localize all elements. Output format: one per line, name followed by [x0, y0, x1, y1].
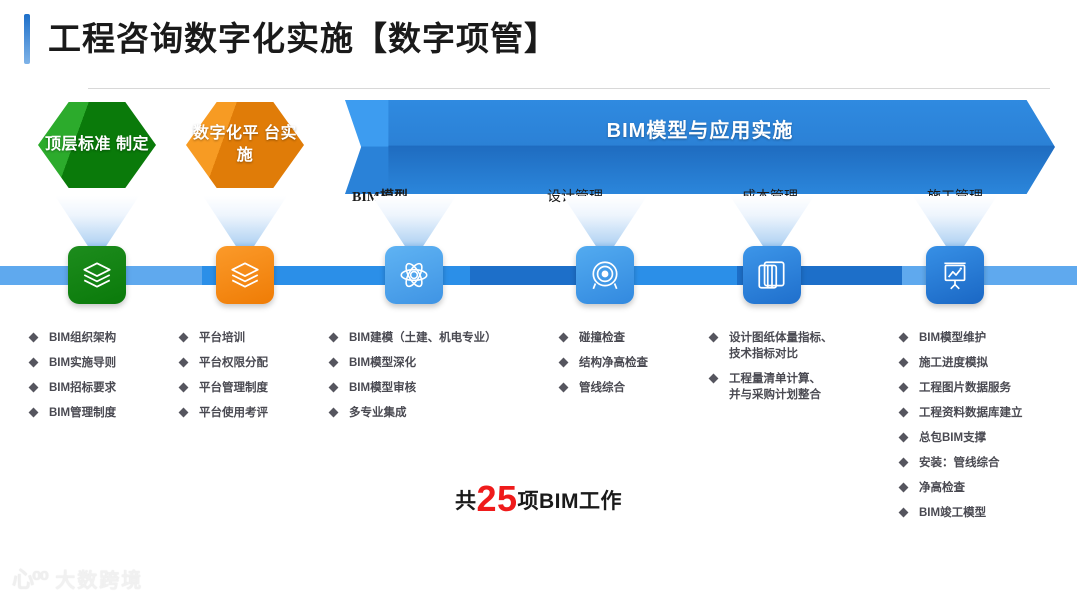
- diamond-bullet-icon: [29, 358, 39, 368]
- bullet-item-label: 平台使用考评: [199, 405, 268, 421]
- diamond-bullet-icon: [29, 408, 39, 418]
- stage-hexagon-label: 数字化平 台实施: [186, 102, 304, 188]
- bullet-item: 多专业集成: [330, 405, 540, 421]
- bullet-column-top-standard: BIM组织架构BIM实施导则BIM招标要求BIM管理制度: [30, 330, 180, 430]
- diamond-bullet-icon: [29, 383, 39, 393]
- watermark: 心⁰⁰ 大数跨境: [12, 562, 143, 594]
- layers-icon: [228, 258, 262, 292]
- bullet-item: 安装：管线综合: [900, 455, 1065, 471]
- icon-tile-construction[interactable]: [926, 246, 984, 304]
- bullet-item-label: 施工进度模拟: [919, 355, 988, 371]
- bullet-item: BIM管理制度: [30, 405, 180, 421]
- bullet-column-design: 碰撞检查结构净高检查管线综合: [560, 330, 700, 405]
- diamond-bullet-icon: [329, 333, 339, 343]
- page-title: 工程咨询数字化实施【数字项管】: [48, 14, 558, 64]
- diamond-bullet-icon: [179, 358, 189, 368]
- summary-suffix: 项BIM工作: [518, 490, 623, 513]
- diamond-bullet-icon: [899, 358, 909, 368]
- bim-banner[interactable]: BIM模型与应用实施: [345, 100, 1055, 194]
- bullet-item: BIM模型维护: [900, 330, 1065, 346]
- diamond-bullet-icon: [179, 383, 189, 393]
- icon-tile-cost[interactable]: [743, 246, 801, 304]
- bullet-item-label: 管线综合: [579, 380, 625, 396]
- bullet-item: 施工进度模拟: [900, 355, 1065, 371]
- bullet-item: 平台管理制度: [180, 380, 325, 396]
- target-icon: [588, 258, 622, 292]
- bullet-item: BIM实施导则: [30, 355, 180, 371]
- bullet-item-label: 总包BIM支撑: [919, 430, 986, 446]
- bullet-item-label: 安装：管线综合: [919, 455, 1000, 471]
- bullet-item-label: BIM实施导则: [49, 355, 116, 371]
- bullet-item-label: 多专业集成: [349, 405, 407, 421]
- summary-text: 共25项BIM工作: [0, 478, 1077, 520]
- bullet-item: 碰撞检查: [560, 330, 700, 346]
- bullet-item-label: 平台培训: [199, 330, 245, 346]
- bullet-item: BIM模型深化: [330, 355, 540, 371]
- bullet-item: 工程资料数据库建立: [900, 405, 1065, 421]
- diamond-bullet-icon: [709, 333, 719, 343]
- bullet-item: 平台培训: [180, 330, 325, 346]
- summary-prefix: 共: [455, 490, 477, 513]
- atom-icon: [397, 258, 431, 292]
- layers-icon: [80, 258, 114, 292]
- stage-hexagon-label: 顶层标准 制定: [38, 102, 156, 188]
- diamond-bullet-icon: [899, 458, 909, 468]
- icon-tile-bim-model[interactable]: [385, 246, 443, 304]
- diamond-bullet-icon: [179, 333, 189, 343]
- bullet-item-label: BIM模型审核: [349, 380, 416, 396]
- bullet-item: BIM招标要求: [30, 380, 180, 396]
- title-accent-bar: [24, 14, 30, 64]
- diamond-bullet-icon: [329, 358, 339, 368]
- diamond-bullet-icon: [899, 408, 909, 418]
- icon-tile-design[interactable]: [576, 246, 634, 304]
- icon-tile-platform[interactable]: [216, 246, 274, 304]
- bullet-item: BIM建模（土建、机电专业）: [330, 330, 540, 346]
- bullet-item: 设计图纸体量指标、 技术指标对比: [710, 330, 890, 362]
- bullet-item: 管线综合: [560, 380, 700, 396]
- diamond-bullet-icon: [329, 408, 339, 418]
- bullet-item-label: 工程图片数据服务: [919, 380, 1011, 396]
- bullet-item-label: BIM模型维护: [919, 330, 986, 346]
- diamond-bullet-icon: [559, 383, 569, 393]
- banner-label: BIM模型与应用实施: [345, 100, 1055, 194]
- bullet-item-label: 平台管理制度: [199, 380, 268, 396]
- watermark-label: 大数跨境: [55, 564, 143, 593]
- diamond-bullet-icon: [179, 408, 189, 418]
- bullet-item-label: BIM模型深化: [349, 355, 416, 371]
- summary-count: 25: [476, 478, 517, 519]
- slide-canvas: 工程咨询数字化实施【数字项管】 顶层标准 制定 数字化平 台实施 BIM模型与应…: [0, 0, 1077, 604]
- watermark-logo-icon: 心⁰⁰: [12, 562, 47, 594]
- diamond-bullet-icon: [559, 333, 569, 343]
- bullet-item-label: 结构净高检查: [579, 355, 648, 371]
- bullet-item-label: 设计图纸体量指标、 技术指标对比: [729, 330, 833, 362]
- bullet-item: 平台使用考评: [180, 405, 325, 421]
- diamond-bullet-icon: [899, 333, 909, 343]
- window-panels-icon: [755, 258, 789, 292]
- bullet-item-label: 工程资料数据库建立: [919, 405, 1023, 421]
- bullet-item-label: BIM招标要求: [49, 380, 116, 396]
- diamond-bullet-icon: [29, 333, 39, 343]
- bullet-item: 结构净高检查: [560, 355, 700, 371]
- bullet-item: BIM组织架构: [30, 330, 180, 346]
- presentation-icon: [938, 258, 972, 292]
- bullet-item: 工程量清单计算、 并与采购计划整合: [710, 371, 890, 403]
- diamond-bullet-icon: [899, 383, 909, 393]
- icon-tile-top-standard[interactable]: [68, 246, 126, 304]
- page-title-block: 工程咨询数字化实施【数字项管】: [24, 14, 558, 64]
- bullet-item-label: 平台权限分配: [199, 355, 268, 371]
- diamond-bullet-icon: [899, 433, 909, 443]
- stage-hexagon-platform[interactable]: 数字化平 台实施: [186, 102, 304, 188]
- bullet-item-label: BIM管理制度: [49, 405, 116, 421]
- bullet-item: BIM模型审核: [330, 380, 540, 396]
- bullet-column-platform: 平台培训平台权限分配平台管理制度平台使用考评: [180, 330, 325, 430]
- bullet-item: 工程图片数据服务: [900, 380, 1065, 396]
- timeline-rail: [0, 266, 1077, 285]
- bullet-column-bim-model: BIM建模（土建、机电专业）BIM模型深化BIM模型审核多专业集成: [330, 330, 540, 430]
- diamond-bullet-icon: [559, 358, 569, 368]
- bullet-item-label: BIM建模（土建、机电专业）: [349, 330, 497, 346]
- bullet-item: 平台权限分配: [180, 355, 325, 371]
- bullet-item: 总包BIM支撑: [900, 430, 1065, 446]
- bullet-column-cost: 设计图纸体量指标、 技术指标对比工程量清单计算、 并与采购计划整合: [710, 330, 890, 412]
- bullet-item-label: 碰撞检查: [579, 330, 625, 346]
- diamond-bullet-icon: [329, 383, 339, 393]
- title-divider: [88, 88, 1050, 89]
- diamond-bullet-icon: [709, 374, 719, 384]
- bullet-item-label: BIM组织架构: [49, 330, 116, 346]
- bullet-item-label: 工程量清单计算、 并与采购计划整合: [729, 371, 821, 403]
- stage-hexagon-top-standard[interactable]: 顶层标准 制定: [38, 102, 156, 188]
